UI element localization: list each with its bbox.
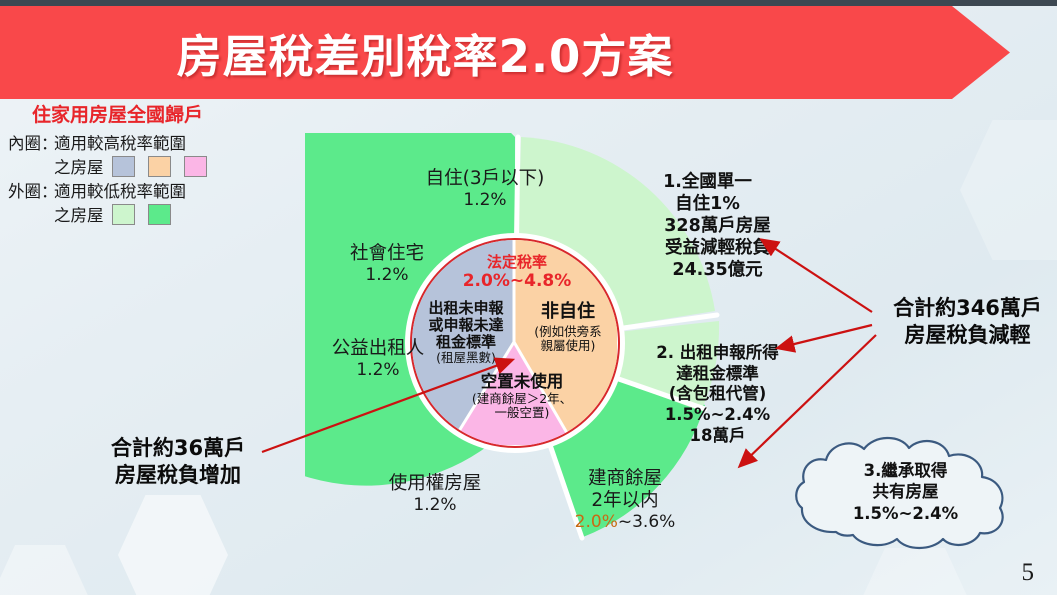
legend-swatch-group-outer [112,204,171,225]
page-number: 5 [1022,559,1035,587]
line-4: 1.5%~2.4% [610,405,825,426]
inner-label-line1: 非自住 [518,302,618,323]
line-2: 自住1% [595,194,820,216]
outer-label-social-housing: 社會住宅 1.2% [297,243,477,285]
inner-label-non-self-use: 非自住 (例如供旁系 親屬使用) [518,302,618,353]
line-2: 共有房屋 [788,481,1023,502]
legend-row-inner: 內圈： 適用較高稅率範圍 [8,130,308,154]
legend-swatch-pink [184,156,207,177]
line-1: 2. 出租申報所得 [610,343,825,364]
legend-row-outer: 外圈： 適用較低稅率範圍 [8,178,308,202]
right-block-reported-rental-income: 2. 出租申報所得 達租金標準 (含包租代管) 1.5%~2.4% 18萬戶 [610,343,825,446]
outer-label-name-line2: 2年以内 [535,490,715,512]
line-2: 達租金標準 [610,364,825,385]
cloud-callout-inheritance: 3.繼承取得 共有房屋 1.5%~2.4% [788,432,1023,557]
cloud-text: 3.繼承取得 共有房屋 1.5%~2.4% [788,460,1023,524]
outer-label-usufruct-house: 使用權房屋 1.2% [335,473,535,515]
hexagon-watermark [0,545,90,595]
legend-swatch-group-inner [112,156,207,177]
legend-key: 內圈： [8,130,54,154]
line-1: 合計約36萬戶 [78,435,278,462]
legend: 住家用房屋全國歸戶 內圈： 適用較高稅率範圍 之房屋 外圈： 適用較低稅率範圍 … [8,100,308,226]
outer-label-name: 使用權房屋 [335,473,535,495]
callout-346-reduced: 合計約346萬戶 房屋稅負減輕 [880,295,1055,350]
line-2: 房屋稅負增加 [78,462,278,489]
inner-label-sub2: 親屬使用) [518,339,618,353]
line-1: 1.全國單一 [595,172,820,194]
legend-swatch-blue-gray [112,156,135,177]
legend-row-inner-swatches: 之房屋 [54,154,308,178]
outer-label-self-use: 自住(3戶以下) 1.2% [365,168,605,210]
outer-label-value: 1.2% [335,495,535,515]
outer-label-value: 1.2% [297,265,477,285]
top-strip [0,0,1057,6]
line-5: 24.35億元 [615,260,820,282]
outer-label-builder-surplus-under-2y: 建商餘屋 2年以内 2.0%~3.6% [535,468,715,532]
inner-label-vacant: 空置未使用 (建商餘屋＞2年、 一般空置) [437,373,607,420]
outer-label-value-low: 2.0% [575,512,618,532]
line-2: 房屋稅負減輕 [880,322,1055,349]
line-3: 1.5%~2.4% [788,503,1023,524]
hexagon-watermark [118,495,228,595]
legend-text: 之房屋 [54,202,104,226]
outer-label-name-line1: 建商餘屋 [535,468,715,490]
outer-label-value: 1.2% [365,190,605,210]
legend-swatch-orange [148,156,171,177]
inner-label-sub1: (建商餘屋＞2年、 [437,392,607,406]
outer-label-public-welfare-landlord: 公益出租人 1.2% [283,338,473,380]
legend-title: 住家用房屋全國歸戶 [32,100,308,127]
line-3: 328萬戶房屋 [615,216,820,238]
inner-label-line1: 出租未申報 [414,300,518,317]
legend-row-outer-swatches: 之房屋 [54,202,308,226]
callout-36-increased: 合計約36萬戶 房屋稅負增加 [78,435,278,490]
outer-label-name: 社會住宅 [297,243,477,265]
inner-label-sub1: (例如供旁系 [518,325,618,339]
right-block-national-single-self-use: 1.全國單一 自住1% 328萬戶房屋 受益減輕稅負 24.35億元 [595,172,820,281]
legend-text: 之房屋 [54,154,104,178]
inner-label-sub2: 一般空置) [437,406,607,420]
legend-swatch-bright-green [148,204,171,225]
title-banner: 房屋稅差別稅率2.0方案 [0,6,1010,99]
inner-label-line2: 或申報未達 [414,317,518,334]
legend-swatch-light-green [112,204,135,225]
line-3: (含包租代管) [610,384,825,405]
page-title: 房屋稅差別稅率2.0方案 [177,20,674,85]
outer-label-value-high: ~3.6% [618,512,675,532]
line-1: 3.繼承取得 [788,460,1023,481]
outer-label-name: 公益出租人 [283,338,473,360]
outer-label-name: 自住(3戶以下) [365,168,605,190]
outer-label-value: 1.2% [283,360,473,380]
hexagon-watermark [960,120,1057,260]
line-1: 合計約346萬戶 [880,295,1055,322]
legend-text: 適用較低稅率範圍 [54,178,186,202]
legend-text: 適用較高稅率範圍 [54,130,186,154]
line-4: 受益減輕稅負 [615,238,820,260]
legend-key: 外圈： [8,178,54,202]
